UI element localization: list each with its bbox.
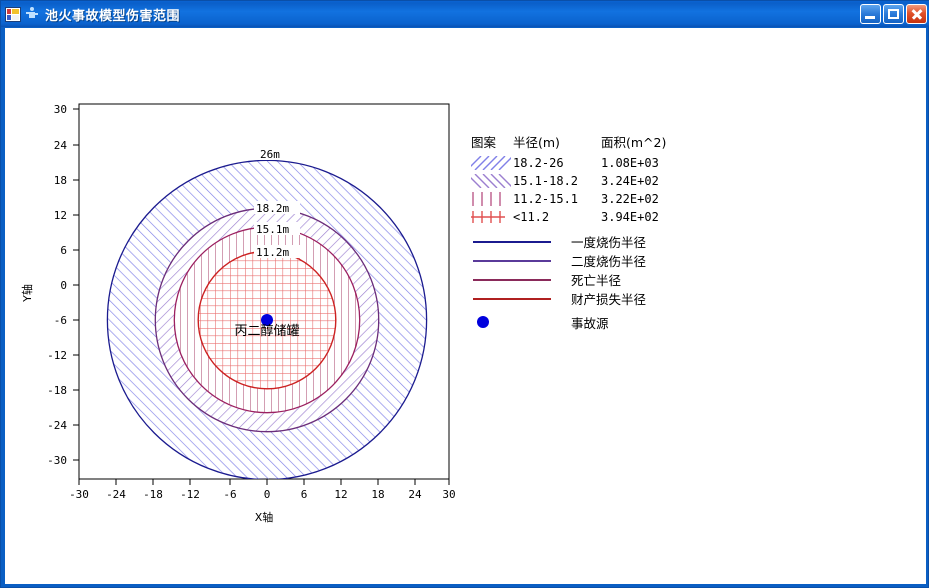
y-axis: 30 24 18 12 6 0 -6 -12 -18 -24 -30 Y轴 <box>20 103 79 467</box>
legend-header-radius: 半径(m) <box>513 132 601 151</box>
y-tick-label: 24 <box>54 139 68 152</box>
window-controls <box>860 4 927 24</box>
client-area: 26m 18.2m 15.1m 11.2m 丙二醇储罐 <box>5 28 926 584</box>
y-tick-label: 12 <box>54 209 67 222</box>
legend-line-row: 一度烧伤半径 <box>471 232 701 251</box>
person-icon <box>26 7 39 21</box>
y-tick-label: -18 <box>47 384 67 397</box>
x-tick-label: 30 <box>442 488 455 501</box>
property-loss-line-icon <box>471 293 557 305</box>
maximize-button[interactable] <box>883 4 904 24</box>
x-tick-label: -12 <box>180 488 200 501</box>
legend-area-value: 3.22E+02 <box>601 192 701 206</box>
x-tick-label: 18 <box>371 488 384 501</box>
death-radius-line-icon <box>471 274 557 286</box>
x-axis-label: X轴 <box>255 510 274 524</box>
y-tick-label: 6 <box>60 244 67 257</box>
legend-radius-value: 11.2-15.1 <box>513 192 601 206</box>
hatch-back-diagonal-icon <box>471 174 513 189</box>
legend-row: 11.2-15.1 3.22E+02 <box>471 190 701 208</box>
x-tick-label: -30 <box>69 488 89 501</box>
x-tick-label: 6 <box>301 488 308 501</box>
x-tick-label: -24 <box>106 488 126 501</box>
legend-line-row: 死亡半径 <box>471 270 701 289</box>
legend-area-value: 1.08E+03 <box>601 156 701 170</box>
legend-header-area: 面积(m^2) <box>601 132 701 151</box>
legend-area-value: 3.94E+02 <box>601 210 701 224</box>
second-degree-burn-line-icon <box>471 255 557 267</box>
contour-label-18-2m: 18.2m <box>256 202 289 215</box>
minimize-button[interactable] <box>860 4 881 24</box>
y-tick-label: 18 <box>54 174 67 187</box>
plot-area: 26m 18.2m 15.1m 11.2m 丙二醇储罐 <box>5 28 926 584</box>
x-tick-label: 0 <box>264 488 271 501</box>
x-tick-label: -18 <box>143 488 163 501</box>
y-tick-label: 0 <box>60 279 67 292</box>
close-button[interactable] <box>906 4 927 24</box>
legend-header-row: 图案 半径(m) 面积(m^2) <box>471 131 701 151</box>
accident-source-dot-icon <box>471 315 557 329</box>
legend-line-label: 一度烧伤半径 <box>557 232 646 251</box>
damage-range-chart: 26m 18.2m 15.1m 11.2m 丙二醇储罐 <box>5 28 926 584</box>
legend-line-label: 二度烧伤半径 <box>557 251 646 270</box>
x-tick-label: -6 <box>223 488 236 501</box>
legend-source-label: 事故源 <box>557 313 609 332</box>
legend-header-pattern: 图案 <box>471 132 513 151</box>
y-tick-label: -24 <box>47 419 67 432</box>
legend: 图案 半径(m) 面积(m^2) 18.2-26 1.08 <box>471 131 701 333</box>
x-tick-label: 24 <box>408 488 422 501</box>
legend-radius-value: 15.1-18.2 <box>513 174 601 188</box>
y-tick-label: -6 <box>54 314 67 327</box>
x-axis: -30 -24 -18 -12 -6 0 6 12 18 24 30 X轴 <box>69 479 456 524</box>
application-window: 池火事故模型伤害范围 <box>0 0 929 588</box>
legend-row: 15.1-18.2 3.24E+02 <box>471 172 701 190</box>
contour-label-15-1m: 15.1m <box>256 223 289 236</box>
legend-line-label: 财产损失半径 <box>557 289 646 308</box>
source-label: 丙二醇储罐 <box>234 323 299 339</box>
legend-radius-value: <11.2 <box>513 210 601 224</box>
contour-label-11-2m: 11.2m <box>256 246 289 259</box>
legend-line-row: 二度烧伤半径 <box>471 251 701 270</box>
first-degree-burn-line-icon <box>471 236 557 248</box>
y-tick-label: -30 <box>47 454 67 467</box>
y-axis-label: Y轴 <box>20 284 34 303</box>
legend-row: 18.2-26 1.08E+03 <box>471 154 701 172</box>
legend-source-row: 事故源 <box>471 311 701 333</box>
hatch-cross-icon <box>471 210 513 225</box>
y-tick-label: -12 <box>47 349 67 362</box>
title-bar: 池火事故模型伤害范围 <box>1 1 929 27</box>
legend-line-label: 死亡半径 <box>557 270 621 289</box>
legend-line-row: 财产损失半径 <box>471 289 701 308</box>
legend-radius-value: 18.2-26 <box>513 156 601 170</box>
window-title: 池火事故模型伤害范围 <box>45 5 180 24</box>
y-tick-label: 30 <box>54 103 67 116</box>
hatch-vertical-icon <box>471 192 513 207</box>
x-tick-label: 12 <box>334 488 347 501</box>
app-grid-icon <box>5 7 21 22</box>
legend-row: <11.2 3.94E+02 <box>471 208 701 226</box>
legend-area-value: 3.24E+02 <box>601 174 701 188</box>
contour-label-26m: 26m <box>260 148 280 161</box>
hatch-forward-diagonal-icon <box>471 156 513 171</box>
